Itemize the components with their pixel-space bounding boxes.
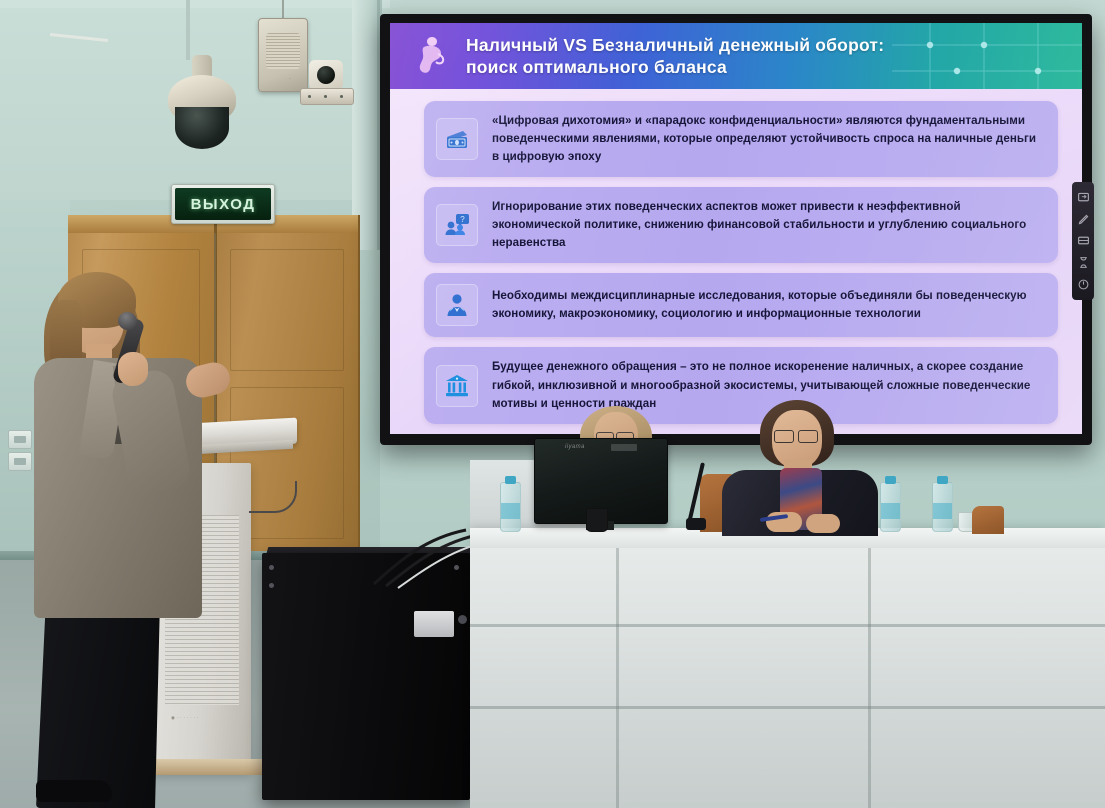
water-bottle	[880, 482, 901, 532]
list-item: Будущее денежного обращения – это не пол…	[424, 347, 1058, 423]
exit-sign-label: ВЫХОД	[191, 196, 256, 213]
camera-mount-bar	[186, 0, 190, 60]
monitor-badge	[611, 444, 637, 451]
network-node-decoration	[892, 23, 1082, 89]
slide-header: Наличный VS Безналичный денежный оборот:…	[390, 23, 1082, 89]
keyboard-icon[interactable]	[1077, 234, 1090, 247]
presenter-legs	[36, 600, 160, 808]
slide-title-line1: Наличный VS Безналичный денежный оборот:	[466, 34, 884, 56]
water-bottle	[500, 482, 521, 532]
water-bottle	[932, 482, 953, 532]
panelist-center-glasses	[774, 430, 794, 443]
ptz-camera-icon	[300, 60, 352, 106]
pen-icon[interactable]	[1077, 213, 1090, 226]
exit-sign-panel: ВЫХОД	[175, 188, 271, 220]
hourglass-icon[interactable]	[1077, 256, 1090, 269]
presenter-logo-icon	[412, 34, 450, 78]
podium-cable	[249, 481, 297, 513]
dome-camera-icon	[166, 55, 238, 151]
desk-speaker	[586, 508, 608, 532]
list-item: Необходимы междисциплинарные исследовани…	[424, 273, 1058, 337]
presentation-display[interactable]: Наличный VS Безналичный денежный оборот:…	[380, 14, 1092, 445]
list-item: «Цифровая дихотомия» и «парадокс конфиде…	[424, 101, 1058, 177]
people-question-icon: ?	[436, 204, 478, 246]
wall-outlet[interactable]	[8, 430, 32, 449]
banknotes-icon	[436, 118, 478, 160]
exit-sign: ВЫХОД	[171, 184, 275, 224]
bank-building-icon	[436, 365, 478, 407]
speaker-hanging-wire	[282, 0, 284, 18]
bullet-text: «Цифровая дихотомия» и «парадокс конфиде…	[492, 112, 1042, 166]
display-side-toolbar[interactable]	[1072, 182, 1094, 300]
professional-person-icon	[436, 284, 478, 326]
svg-text:?: ?	[460, 215, 465, 224]
panelist-hand	[806, 514, 840, 533]
screen-share-icon[interactable]	[1077, 191, 1090, 204]
panelist-center-glasses	[798, 430, 818, 443]
monitor-brand-label: iiyama	[565, 444, 585, 450]
slide-title-line2: поиск оптимального баланса	[466, 56, 884, 78]
bullet-text: Будущее денежного обращения – это не пол…	[492, 358, 1042, 412]
slide-canvas: Наличный VS Безналичный денежный оборот:…	[390, 23, 1082, 434]
presenter-hand	[118, 352, 148, 386]
slide-bullet-list: «Цифровая дихотомия» и «парадокс конфиде…	[424, 101, 1058, 424]
list-item: ? Игнорирование этих поведенческих аспек…	[424, 187, 1058, 263]
av-equipment-rack	[262, 553, 470, 800]
display-screen: Наличный VS Безналичный денежный оборот:…	[390, 23, 1082, 434]
panel-table	[470, 528, 1105, 808]
panelist-chair	[972, 506, 1004, 534]
wall-outlet[interactable]	[8, 452, 32, 471]
presenter-shoe	[36, 780, 112, 802]
power-icon[interactable]	[1077, 278, 1090, 291]
rack-label-plate	[414, 611, 454, 637]
microphone-base	[686, 518, 706, 530]
ceiling-edge	[0, 0, 390, 8]
bullet-text: Необходимы междисциплинарные исследовани…	[492, 287, 1042, 323]
presentation-room-photo: ВЫХОД ·	[0, 0, 1105, 808]
bullet-text: Игнорирование этих поведенческих аспекто…	[492, 198, 1042, 252]
rack-knob[interactable]	[458, 615, 467, 624]
slide-title: Наличный VS Безналичный денежный оборот:…	[466, 34, 884, 79]
